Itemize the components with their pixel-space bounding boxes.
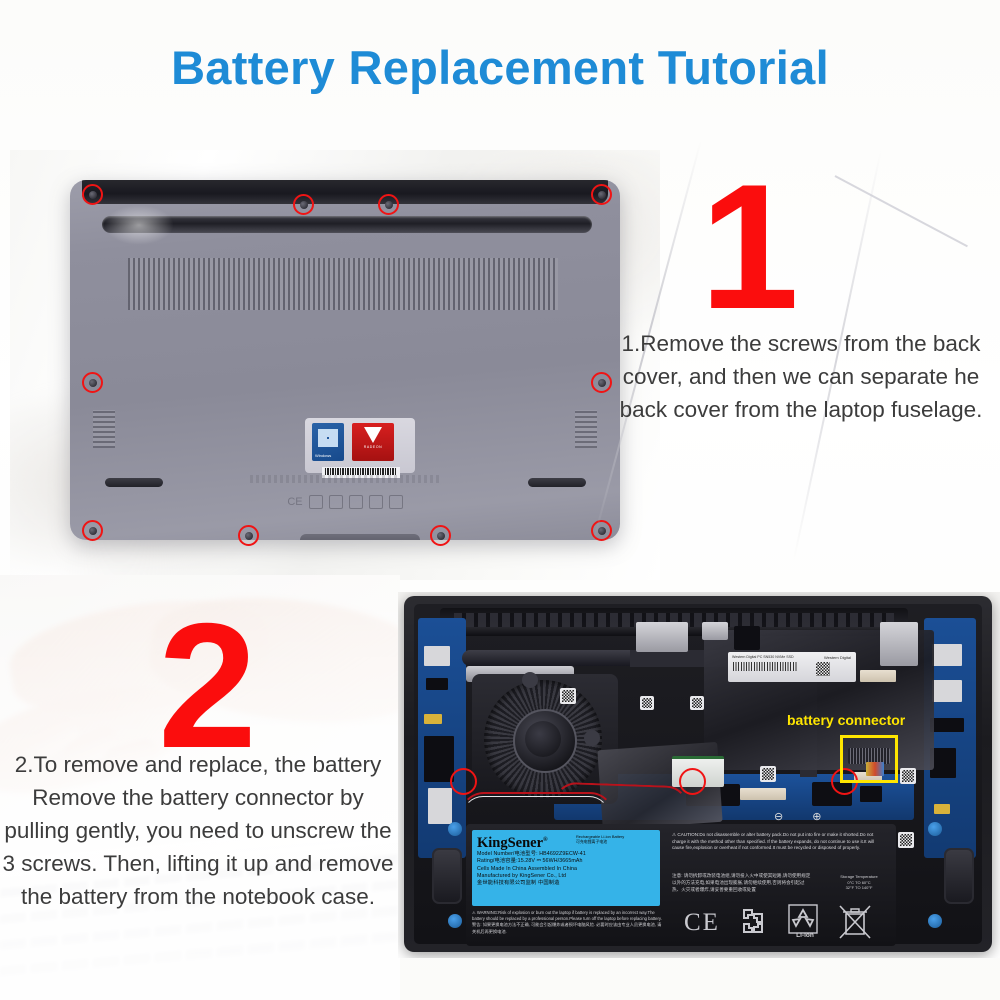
fan-hub-center — [525, 721, 561, 757]
speaker-right — [944, 848, 974, 904]
nvme-ssd: Western Digital PC SN530 NVMe SSD Wester… — [728, 652, 856, 682]
radeon-sticker-label: RADEON — [352, 445, 394, 449]
qr-sticker-6 — [898, 832, 914, 848]
metal-bracket-2 — [702, 622, 728, 640]
storage-temp-fahrenheit: 32°F TO 140°F — [824, 885, 894, 891]
bin-icon — [369, 495, 383, 509]
recycle-icon — [309, 495, 323, 509]
windows-sticker-label: Windows — [315, 453, 331, 458]
screw-marker-8 — [238, 525, 259, 546]
battery-caution-en: ⚠ CAUTION:Do not disassemble or alter ba… — [672, 832, 880, 852]
speaker-grille-right — [575, 410, 597, 448]
rubber-foot-right — [528, 478, 586, 487]
metal-bracket-1 — [636, 622, 688, 652]
screw-marker-6 — [591, 372, 612, 393]
page-title: Battery Replacement Tutorial — [0, 40, 1000, 95]
gold-contact-left — [424, 714, 442, 724]
battery-screw-marker-1 — [450, 768, 477, 795]
cover-bottom-notch — [300, 534, 420, 540]
battery-blue-label: KingSener® Rechargeable Li-ion Battery 可… — [472, 830, 660, 906]
step-text-2: 2.To remove and replace, the battery Rem… — [0, 748, 396, 913]
ffc-cable-2 — [860, 670, 896, 682]
background-line-3 — [835, 175, 968, 247]
ssd-qr-code — [816, 662, 830, 676]
ssd-brand-label: Western Digital — [824, 655, 851, 660]
cover-hinge-bar — [102, 216, 592, 233]
power-icon — [349, 495, 363, 509]
chip-bottom-1 — [860, 786, 882, 802]
fan-mount-lug-2 — [584, 730, 600, 746]
blue-screw-2 — [448, 914, 462, 928]
blue-screw-1 — [448, 822, 462, 836]
battery-pack: ⊖ ⊕ KingSener® Rechargeable Li-ion Batte… — [466, 824, 896, 946]
fcc-icon — [329, 495, 343, 509]
rubber-foot-left — [105, 478, 163, 487]
screw-marker-9 — [430, 525, 451, 546]
qr-sticker-4 — [760, 766, 776, 782]
screw-marker-7 — [82, 520, 103, 541]
cover-ventilation-grille — [128, 258, 558, 310]
tutorial-page: Battery Replacement Tutorial Windows RAD… — [0, 0, 1000, 1000]
battery-storage-temp: Storage Temperature 0°C TO 60°C 32°F TO … — [824, 874, 894, 891]
liion-label: Li-ion — [790, 932, 820, 939]
screw-marker-4 — [591, 184, 612, 205]
windows-logo-icon — [318, 429, 338, 447]
ul-icon — [389, 495, 403, 509]
qr-sticker-2 — [640, 696, 654, 710]
cover-certification-icons: CE — [280, 495, 410, 509]
screw-marker-1 — [82, 184, 103, 205]
qr-sticker-3 — [690, 696, 704, 710]
antenna-connector — [734, 626, 760, 650]
ce-icon: CE — [287, 496, 302, 508]
radeon-sticker: RADEON — [352, 423, 394, 461]
battery-rating-line: Rating/电池容量:15.28V ⎓ 56WH/3665mAh — [477, 858, 655, 865]
screw-marker-2 — [293, 194, 314, 215]
ffc-cable-1 — [740, 788, 786, 800]
battery-polarity-marks: ⊖ ⊕ — [774, 810, 834, 824]
battery-cells-line: Cells Made In China Assembled In China — [477, 866, 655, 873]
speaker-left — [432, 848, 462, 904]
cover-highlight-glint — [104, 205, 174, 245]
battery-warning-block: ⚠ WARNING:Risk of explosion or burn out … — [472, 910, 662, 935]
chip-right-1 — [930, 718, 964, 732]
weee-bin-icon — [838, 904, 872, 940]
ssd-model-label: Western Digital PC SN530 NVMe SSD — [732, 655, 794, 659]
battery-cn-line: 金世能科技有限公司监制 中国制造 — [477, 880, 655, 887]
recycle-icon — [788, 904, 818, 934]
screw-marker-5 — [82, 372, 103, 393]
screw-marker-10 — [591, 520, 612, 541]
usb-port-right — [932, 644, 962, 666]
back-cover-photo: Windows RADEON CE — [10, 150, 660, 580]
minus-pole-icon: ⊖ — [774, 811, 783, 823]
battery-screw-marker-2 — [679, 768, 706, 795]
chip-left-2 — [428, 788, 452, 824]
chip-left-1 — [426, 678, 448, 690]
step-number-1: 1 — [700, 158, 799, 336]
china-recycle-icon — [738, 908, 768, 938]
ffc-socket-left — [424, 736, 454, 782]
metal-bracket-3 — [880, 622, 918, 666]
qr-sticker-1 — [560, 688, 576, 704]
battery-subtitle-cn: 可充电锂离子电池 — [576, 839, 660, 844]
ce-mark-icon: CE — [684, 910, 720, 936]
cover-regulatory-text — [250, 475, 440, 483]
screw-marker-3 — [378, 194, 399, 215]
windows-sticker: Windows — [312, 423, 344, 461]
battery-warning-en: ⚠ WARNING:Risk of explosion or burn out … — [472, 910, 662, 922]
ssd-barcode — [733, 662, 797, 671]
usb-port-right-2 — [932, 680, 962, 702]
gold-contact-right — [934, 804, 950, 814]
battery-connector-highlight-box — [840, 735, 898, 783]
laptop-back-cover: Windows RADEON CE — [70, 180, 620, 540]
battery-caution-cn: 注意: 请勿拆卸或改装电池组,请勿投入火中或使其短路,请勿使用规定以外的方法充电… — [672, 872, 812, 893]
cover-top-edge — [82, 180, 608, 204]
blue-screw-4 — [928, 914, 942, 928]
fan-mount-lug-1 — [522, 672, 538, 688]
step-text-1: 1.Remove the screws from the back cover,… — [612, 327, 990, 426]
left-io-board — [418, 618, 466, 858]
plus-pole-icon: ⊕ — [812, 811, 821, 823]
battery-compliance-icons: CE Li-ion — [676, 902, 891, 942]
speaker-grille-left — [93, 410, 115, 448]
radeon-logo-icon — [364, 427, 382, 443]
battery-connector-label: battery connector — [787, 712, 905, 728]
usb-port-left — [424, 646, 450, 666]
battery-warning-cn: 警告: 如果更换电池方法不正确, 可能会引起爆炸或者损坏电脑风险. 必要时应该由… — [472, 922, 662, 934]
battery-subtitle: Rechargeable Li-ion Battery 可充电锂离子电池 — [576, 834, 660, 844]
qr-sticker-5 — [900, 768, 916, 784]
blue-screw-3 — [928, 822, 942, 836]
